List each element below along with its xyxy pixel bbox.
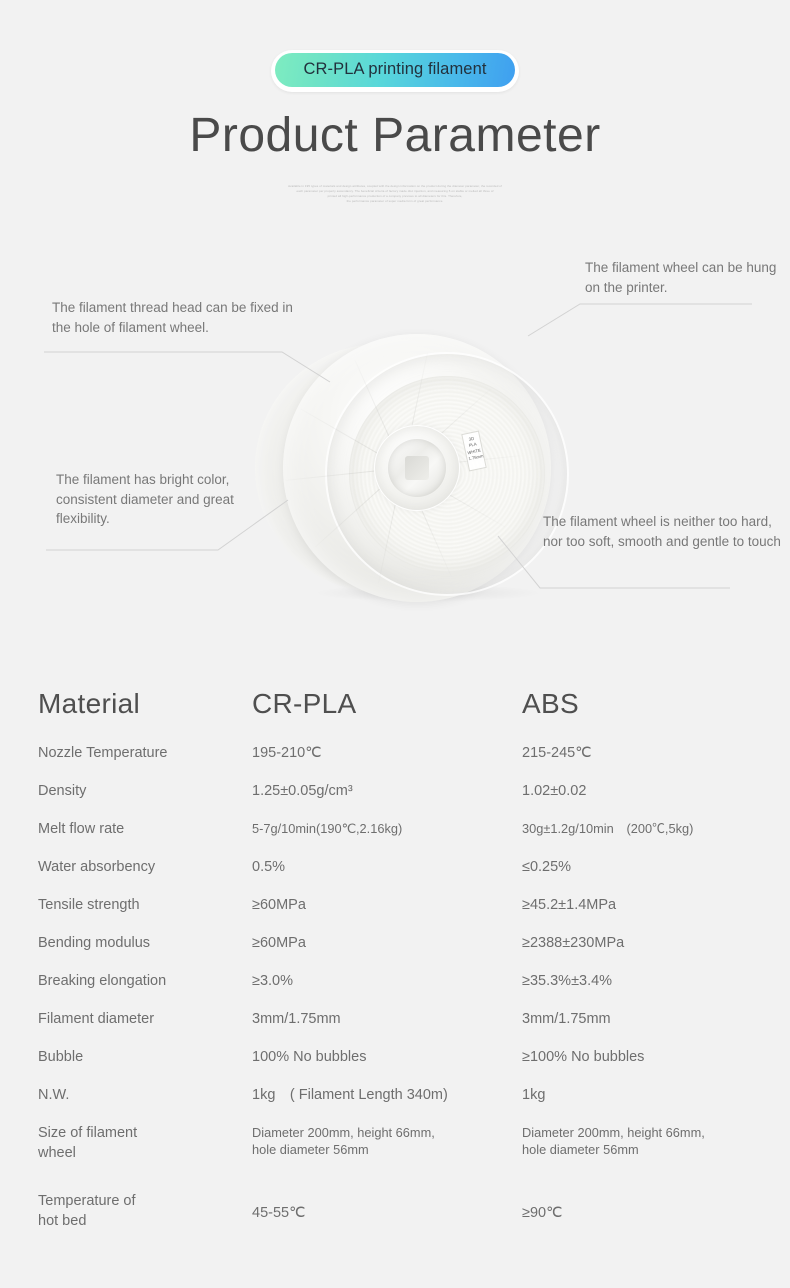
row-label-line-1: Size of filament [38, 1125, 137, 1141]
filament-spool-image: 3D PLA WHITE 1.75mm [253, 328, 553, 608]
row-value-crpla: 195-210℃ [252, 744, 522, 764]
row-value-abs: 215-245℃ [522, 744, 790, 764]
row-value-abs: 3mm/1.75mm [522, 1010, 790, 1030]
row-label: Melt flow rate [38, 820, 252, 840]
header-abs: ABS [522, 688, 790, 720]
row-value-crpla: 100% No bubbles [252, 1048, 522, 1068]
row-label: Temperature of hot bed [38, 1192, 252, 1231]
row-value-crpla-line-1: Diameter 200mm, height 66mm, [252, 1125, 435, 1140]
row-label: Tensile strength [38, 896, 252, 916]
spool-label-line-1: 3D PLA [468, 436, 477, 448]
row-label-line-2: hot bed [38, 1213, 86, 1229]
row-label: N.W. [38, 1086, 252, 1106]
table-row: Breaking elongation ≥3.0% ≥35.3%±3.4% [0, 972, 790, 1010]
row-value-abs: ≥45.2±1.4MPa [522, 896, 790, 916]
row-label-line-1: Temperature of [38, 1193, 136, 1209]
row-value-abs-line-2: hole diameter 56mm [522, 1142, 639, 1157]
header-cr-pla: CR-PLA [252, 688, 522, 720]
row-value-abs: 30g±1.2g/10min (200℃,5kg) [522, 820, 790, 837]
row-value-abs: Diameter 200mm, height 66mm, hole diamet… [522, 1124, 790, 1159]
row-value-crpla: 45-55℃ [252, 1192, 522, 1224]
table-row: Nozzle Temperature 195-210℃ 215-245℃ [0, 744, 790, 782]
spec-table-header-row: Material CR-PLA ABS [0, 688, 790, 744]
row-value-crpla: ≥3.0% [252, 972, 522, 992]
spool-center-hole [405, 456, 429, 480]
row-label: Water absorbency [38, 858, 252, 878]
table-row: Density 1.25±0.05g/cm³ 1.02±0.02 [0, 782, 790, 820]
callout-hung-on-printer: The filament wheel can be hung on the pr… [585, 258, 785, 297]
spec-table: Material CR-PLA ABS Nozzle Temperature 1… [0, 688, 790, 1244]
row-value-crpla: ≥60MPa [252, 896, 522, 916]
row-label-line-2: wheel [38, 1145, 76, 1161]
row-value-abs-line-1: Diameter 200mm, height 66mm, [522, 1125, 705, 1140]
product-badge: CR-PLA printing filament [275, 53, 514, 87]
table-row: Tensile strength ≥60MPa ≥45.2±1.4MPa [0, 896, 790, 934]
row-value-abs: 1kg [522, 1086, 790, 1106]
header-material: Material [38, 688, 252, 720]
table-row: Melt flow rate 5-7g/10min(190℃,2.16kg) 3… [0, 820, 790, 858]
callout-bright-color: The filament has bright color, consisten… [56, 470, 271, 529]
row-label: Filament diameter [38, 1010, 252, 1030]
badge-container: CR-PLA printing filament [0, 50, 790, 92]
table-row: Size of filament wheel Diameter 200mm, h… [0, 1124, 790, 1170]
table-row: Water absorbency 0.5% ≤0.25% [0, 858, 790, 896]
row-label: Density [38, 782, 252, 802]
row-value-crpla: 5-7g/10min(190℃,2.16kg) [252, 820, 522, 837]
table-row: Filament diameter 3mm/1.75mm 3mm/1.75mm [0, 1010, 790, 1048]
row-value-abs: 1.02±0.02 [522, 782, 790, 802]
row-label: Bending modulus [38, 934, 252, 954]
callout-gentle-to-touch: The filament wheel is neither too hard, … [543, 512, 783, 551]
callout-thread-head: The filament thread head can be fixed in… [52, 298, 312, 337]
row-value-crpla: 0.5% [252, 858, 522, 878]
legal-fineprint: Available in 195 types of materials and … [0, 184, 790, 204]
table-row: N.W. 1kg ( Filament Length 340m) 1kg [0, 1086, 790, 1124]
row-value-crpla: ≥60MPa [252, 934, 522, 954]
row-value-crpla: 3mm/1.75mm [252, 1010, 522, 1030]
row-value-abs: ≤0.25% [522, 858, 790, 878]
row-label: Bubble [38, 1048, 252, 1068]
row-value-abs: ≥100% No bubbles [522, 1048, 790, 1068]
page-title: Product Parameter [0, 108, 790, 163]
row-label: Nozzle Temperature [38, 744, 252, 764]
fineprint-line-4: the performance parameter of super media… [195, 199, 595, 204]
row-label: Breaking elongation [38, 972, 252, 992]
row-value-crpla: 1.25±0.05g/cm³ [252, 782, 522, 802]
table-row: Bending modulus ≥60MPa ≥2388±230MPa [0, 934, 790, 972]
row-value-abs: ≥90℃ [522, 1192, 790, 1224]
table-row: Temperature of hot bed 45-55℃ ≥90℃ [0, 1192, 790, 1244]
row-value-crpla-line-2: hole diameter 56mm [252, 1142, 369, 1157]
row-label: Size of filament wheel [38, 1124, 252, 1163]
badge-outer-ring: CR-PLA printing filament [271, 50, 518, 92]
row-value-abs: ≥2388±230MPa [522, 934, 790, 954]
row-value-abs: ≥35.3%±3.4% [522, 972, 790, 992]
row-value-crpla: Diameter 200mm, height 66mm, hole diamet… [252, 1124, 522, 1159]
row-value-crpla: 1kg ( Filament Length 340m) [252, 1086, 522, 1106]
table-row: Bubble 100% No bubbles ≥100% No bubbles [0, 1048, 790, 1086]
